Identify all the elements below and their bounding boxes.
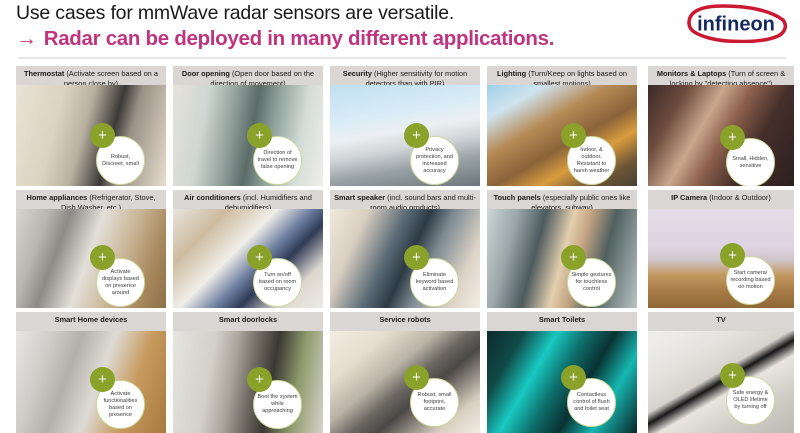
plus-icon[interactable]: + bbox=[720, 125, 745, 150]
use-case-card[interactable]: IP Camera (Indoor & Outdoor)Start camera… bbox=[648, 190, 794, 308]
page-subtitle-text: Radar can be deployed in many different … bbox=[44, 27, 554, 51]
card-subtitle: (Indoor & Outdoor) bbox=[707, 193, 771, 202]
card-header: Smart doorlocks bbox=[173, 312, 323, 331]
benefit-callout[interactable]: Start camera/ recording based on motion+ bbox=[720, 243, 776, 299]
use-case-card[interactable]: Home appliances (Refrigerator, Stove, Di… bbox=[16, 190, 166, 308]
card-header: Touch panels (especially public ones lik… bbox=[487, 190, 637, 209]
card-title: Smart Toilets bbox=[539, 315, 585, 324]
benefit-callout[interactable]: Safe energy & OLED lifetime by turning o… bbox=[720, 363, 776, 419]
benefit-callout[interactable]: Direction of travel to remove false open… bbox=[247, 123, 303, 179]
use-case-grid: Thermostat (Activate screen based on a p… bbox=[0, 62, 800, 433]
card-title: Smart Home devices bbox=[55, 315, 128, 324]
use-case-card[interactable]: Smart speaker (incl. sound bars and mult… bbox=[330, 190, 480, 308]
use-case-card[interactable]: Touch panels (especially public ones lik… bbox=[487, 190, 637, 308]
plus-icon[interactable]: + bbox=[404, 365, 429, 390]
card-body: Contactless control of flush and toilet … bbox=[487, 331, 637, 433]
plus-icon[interactable]: + bbox=[720, 363, 745, 388]
card-title: Smart doorlocks bbox=[219, 315, 277, 324]
card-header: Air conditioners (incl. Humidifiers and … bbox=[173, 190, 323, 209]
use-case-card[interactable]: Door opening (Open door based on the dir… bbox=[173, 66, 323, 186]
card-header: Thermostat (Activate screen based on a p… bbox=[16, 66, 166, 85]
card-body: Turn on/off based on room occupancy+ bbox=[173, 209, 323, 308]
use-case-card[interactable]: Smart doorlocksBoot the system while app… bbox=[173, 312, 323, 433]
card-subtitle: (Turn/Keep on lights based on smallest m… bbox=[526, 69, 627, 85]
card-header: Smart Toilets bbox=[487, 312, 637, 331]
use-case-card[interactable]: Smart Home devicesActivate functionaliti… bbox=[16, 312, 166, 433]
plus-icon[interactable]: + bbox=[561, 123, 586, 148]
use-case-card[interactable]: Smart ToiletsContactless control of flus… bbox=[487, 312, 637, 433]
card-header: Smart speaker (incl. sound bars and mult… bbox=[330, 190, 480, 209]
card-subtitle: (especially public ones like elevators, … bbox=[531, 193, 630, 209]
card-title: Smart speaker bbox=[334, 193, 385, 202]
card-body: Indoor, & outdoor. Resistant to harsh we… bbox=[487, 85, 637, 186]
use-case-card[interactable]: Service robotsRobust, small footprint, a… bbox=[330, 312, 480, 433]
card-title: Security bbox=[343, 69, 372, 78]
plus-icon[interactable]: + bbox=[90, 245, 115, 270]
benefit-callout[interactable]: Robust, Discreet, small+ bbox=[90, 123, 146, 179]
card-body: Boot the system while approaching+ bbox=[173, 331, 323, 433]
plus-icon[interactable]: + bbox=[90, 123, 115, 148]
card-title: Door opening bbox=[182, 69, 230, 78]
card-header: Monitors & Laptops (Turn of screen & loc… bbox=[648, 66, 794, 85]
benefit-callout[interactable]: Indoor, & outdoor. Resistant to harsh we… bbox=[561, 123, 617, 179]
card-header: Door opening (Open door based on the dir… bbox=[173, 66, 323, 85]
card-title: Home appliances bbox=[27, 193, 88, 202]
card-subtitle: (incl. sound bars and multi-room audio p… bbox=[370, 193, 476, 209]
benefit-callout[interactable]: Turn on/off based on room occupancy+ bbox=[247, 245, 303, 301]
card-body: Eliminate keyword based activation+ bbox=[330, 209, 480, 308]
infineon-logo: infineon bbox=[680, 3, 792, 43]
use-case-card[interactable]: Monitors & Laptops (Turn of screen & loc… bbox=[648, 66, 794, 186]
plus-icon[interactable]: + bbox=[247, 245, 272, 270]
benefit-callout[interactable]: Small, Hidden, sensitive+ bbox=[720, 125, 776, 181]
card-header: TV bbox=[648, 312, 794, 331]
card-header: Home appliances (Refrigerator, Stove, Di… bbox=[16, 190, 166, 209]
plus-icon[interactable]: + bbox=[404, 245, 429, 270]
card-title: Air conditioners bbox=[184, 193, 241, 202]
card-body: Activate functionalities based on presen… bbox=[16, 331, 166, 433]
plus-icon[interactable]: + bbox=[720, 243, 745, 268]
use-case-card[interactable]: Lighting (Turn/Keep on lights based on s… bbox=[487, 66, 637, 186]
benefit-callout[interactable]: Simple gestures for touchless control+ bbox=[561, 245, 617, 301]
plus-icon[interactable]: + bbox=[561, 365, 586, 390]
card-header: Lighting (Turn/Keep on lights based on s… bbox=[487, 66, 637, 85]
benefit-callout[interactable]: Eliminate keyword based activation+ bbox=[404, 245, 460, 301]
card-body: Direction of travel to remove false open… bbox=[173, 85, 323, 186]
header-divider bbox=[18, 57, 786, 59]
arrow-right-icon: → bbox=[16, 28, 37, 49]
card-body: Start camera/ recording based on motion+ bbox=[648, 209, 794, 308]
plus-icon[interactable]: + bbox=[247, 367, 272, 392]
benefit-callout[interactable]: Privacy protection, and increased accura… bbox=[404, 123, 460, 179]
card-title: Touch panels bbox=[494, 193, 541, 202]
card-title: TV bbox=[716, 315, 725, 324]
benefit-callout[interactable]: Robust, small footprint, accurate+ bbox=[404, 365, 460, 421]
slide-header: Use cases for mmWave radar sensors are v… bbox=[0, 0, 800, 58]
card-header: Service robots bbox=[330, 312, 480, 331]
card-title: Service robots bbox=[379, 315, 430, 324]
card-title: Lighting bbox=[497, 69, 526, 78]
benefit-callout[interactable]: Activate displays based on presence arou… bbox=[90, 245, 146, 301]
plus-icon[interactable]: + bbox=[561, 245, 586, 270]
use-case-card[interactable]: TVSafe energy & OLED lifetime by turning… bbox=[648, 312, 794, 433]
benefit-callout[interactable]: Contactless control of flush and toilet … bbox=[561, 365, 617, 421]
use-case-card[interactable]: Thermostat (Activate screen based on a p… bbox=[16, 66, 166, 186]
page-title: Use cases for mmWave radar sensors are v… bbox=[16, 2, 454, 25]
use-case-card[interactable]: Air conditioners (incl. Humidifiers and … bbox=[173, 190, 323, 308]
card-body: Robust, small footprint, accurate+ bbox=[330, 331, 480, 433]
card-subtitle: (Higher sensitivity for motion detectors… bbox=[366, 69, 468, 85]
card-header: Security (Higher sensitivity for motion … bbox=[330, 66, 480, 85]
card-header: Smart Home devices bbox=[16, 312, 166, 331]
card-body: Simple gestures for touchless control+ bbox=[487, 209, 637, 308]
plus-icon[interactable]: + bbox=[90, 367, 115, 392]
plus-icon[interactable]: + bbox=[404, 123, 429, 148]
benefit-callout[interactable]: Boot the system while approaching+ bbox=[247, 367, 303, 423]
card-body: Activate displays based on presence arou… bbox=[16, 209, 166, 308]
card-body: Privacy protection, and increased accura… bbox=[330, 85, 480, 186]
card-title: Monitors & Laptops bbox=[657, 69, 726, 78]
plus-icon[interactable]: + bbox=[247, 123, 272, 148]
page-subtitle: → Radar can be deployed in many differen… bbox=[16, 27, 554, 51]
benefit-callout[interactable]: Activate functionalities based on presen… bbox=[90, 367, 146, 423]
card-subtitle: (Activate screen based on a person close… bbox=[64, 69, 158, 85]
infineon-wordmark: infineon bbox=[697, 14, 775, 36]
card-title: IP Camera bbox=[671, 193, 707, 202]
card-header: IP Camera (Indoor & Outdoor) bbox=[648, 190, 794, 209]
card-body: Robust, Discreet, small+ bbox=[16, 85, 166, 186]
card-body: Small, Hidden, sensitive+ bbox=[648, 85, 794, 186]
card-title: Thermostat bbox=[24, 69, 64, 78]
card-body: Safe energy & OLED lifetime by turning o… bbox=[648, 331, 794, 433]
use-case-card[interactable]: Security (Higher sensitivity for motion … bbox=[330, 66, 480, 186]
